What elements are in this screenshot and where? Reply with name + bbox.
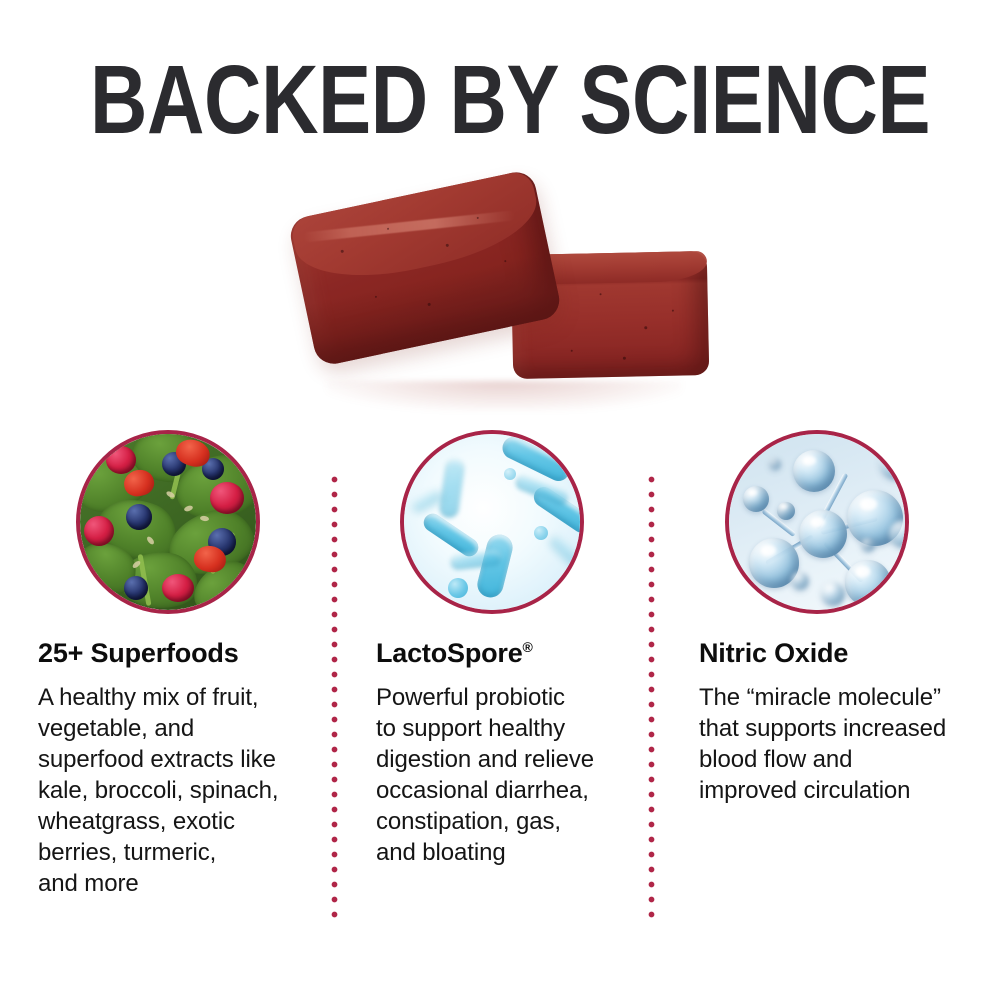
- infographic-page: BACKED BY SCIENCE: [0, 0, 1000, 1000]
- feature-title-superfoods: 25+ Superfoods: [38, 638, 313, 668]
- page-title: BACKED BY SCIENCE: [90, 50, 910, 150]
- product-reflection: [326, 381, 682, 411]
- nitric-oxide-molecule-icon: [725, 430, 909, 614]
- column-divider-2: [648, 476, 655, 922]
- feature-title-lactospore: LactoSpore®: [376, 638, 634, 668]
- column-divider-1: [331, 476, 338, 922]
- feature-title-text: LactoSpore: [376, 638, 523, 668]
- feature-body-superfoods: A healthy mix of fruit, vegetable, and s…: [38, 682, 313, 899]
- feature-body-nitric-oxide: The “miracle molecule” that supports inc…: [699, 682, 989, 806]
- feature-title-text: Nitric Oxide: [699, 638, 848, 668]
- feature-column-lactospore: LactoSpore® Powerful probiotic to suppor…: [376, 430, 634, 868]
- feature-title-nitric-oxide: Nitric Oxide: [699, 638, 989, 668]
- feature-body-lactospore: Powerful probiotic to support healthy di…: [376, 682, 634, 868]
- trademark-symbol: ®: [523, 639, 533, 655]
- feature-column-nitric-oxide: Nitric Oxide The “miracle molecule” that…: [699, 430, 989, 806]
- feature-title-text: 25+ Superfoods: [38, 638, 239, 668]
- feature-column-superfoods: 25+ Superfoods A healthy mix of fruit, v…: [38, 430, 313, 899]
- probiotic-bacteria-icon: [400, 430, 584, 614]
- superfoods-salad-icon: [76, 430, 260, 614]
- product-hero-image: [290, 185, 710, 420]
